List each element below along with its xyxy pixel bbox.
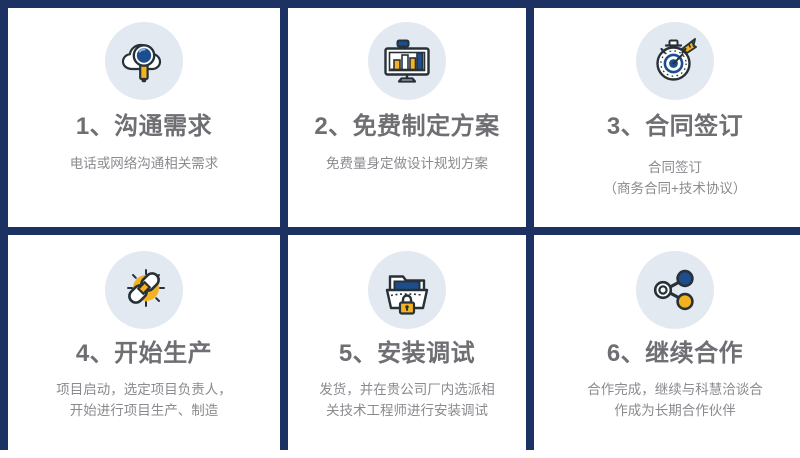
step-title: 4、开始生产 — [76, 341, 212, 367]
process-step-card-6[interactable]: 6、继续合作 合作完成，继续与科慧洽谈合 作成为长期合作伙伴 — [534, 235, 800, 458]
step-title: 1、沟通需求 — [76, 114, 212, 140]
process-step-card-3[interactable]: 3、合同签订 合同签订 （商务合同+技术协议） — [534, 8, 800, 227]
step-description: 合同签订 （商务合同+技术协议） — [596, 158, 755, 200]
process-steps-grid: 1、沟通需求 电话或网络沟通相关需求 2、免费制定方案 免费量身定做设计规划方案 — [0, 0, 800, 450]
step-description: 合作完成，继续与科慧洽谈合 作成为长期合作伙伴 — [579, 380, 771, 422]
step-description: 电话或网络沟通相关需求 — [62, 154, 227, 175]
cloud-search-icon — [105, 22, 183, 100]
folder-lock-icon — [368, 251, 446, 329]
process-step-card-5[interactable]: 5、安装调试 发货，并在贵公司厂内选派相 关技术工程师进行安装调试 — [288, 235, 526, 458]
process-step-card-4[interactable]: 4、开始生产 项目启动，选定项目负责人， 开始进行项目生产、制造 — [8, 235, 280, 458]
monitor-chart-icon — [368, 22, 446, 100]
step-description: 发货，并在贵公司厂内选派相 关技术工程师进行安装调试 — [311, 380, 503, 422]
step-title: 3、合同签订 — [607, 114, 743, 140]
step-title: 5、安装调试 — [339, 341, 475, 367]
chain-link-icon — [105, 251, 183, 329]
step-description: 免费量身定做设计规划方案 — [318, 154, 496, 175]
process-step-card-1[interactable]: 1、沟通需求 电话或网络沟通相关需求 — [8, 8, 280, 227]
process-step-card-2[interactable]: 2、免费制定方案 免费量身定做设计规划方案 — [288, 8, 526, 227]
share-network-icon — [636, 251, 714, 329]
step-title: 2、免费制定方案 — [314, 114, 499, 140]
step-description: 项目启动，选定项目负责人， 开始进行项目生产、制造 — [48, 380, 240, 422]
stopwatch-target-icon — [636, 22, 714, 100]
step-title: 6、继续合作 — [607, 341, 743, 367]
